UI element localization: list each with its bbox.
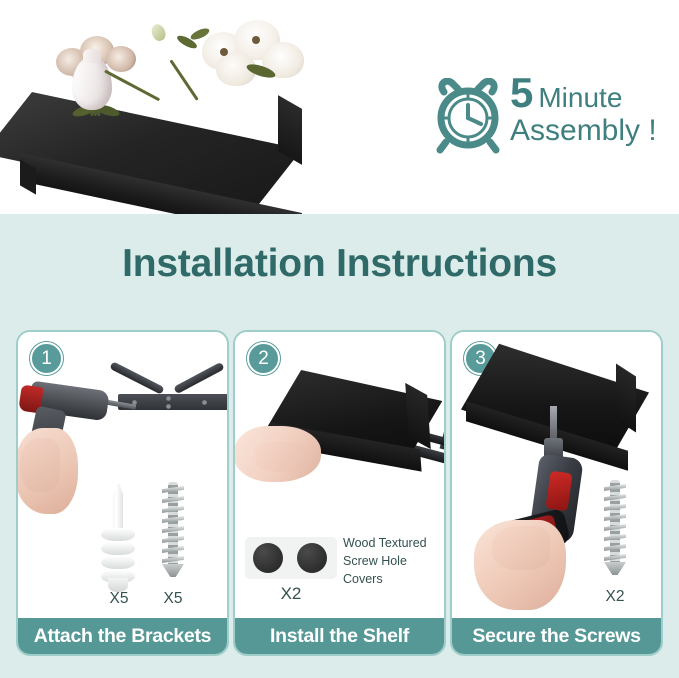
- step-card-3[interactable]: 3: [450, 330, 663, 656]
- step-2-illustration: 2 Wood Textured Screw Hole: [235, 332, 444, 618]
- screw-shaft: [610, 480, 620, 564]
- wall-anchor-graphic: [100, 484, 136, 594]
- hand-graphic: [474, 520, 566, 610]
- screw-graphic: [162, 482, 184, 578]
- screwdriver-bit: [550, 406, 557, 440]
- assembly-label: Assembly !: [510, 115, 657, 147]
- ceramic-vase: [72, 58, 112, 110]
- hero-shelf-image: [10, 80, 330, 205]
- bracket-screw-hole: [166, 396, 171, 401]
- flower-bloom: [106, 46, 136, 72]
- steps-row: 1: [16, 330, 663, 656]
- step-3-illustration: 3: [452, 332, 661, 618]
- bracket-screw-hole: [202, 400, 207, 405]
- step-card-2[interactable]: 2 Wood Textured Screw Hole: [233, 330, 446, 656]
- anchor-thread: [101, 528, 135, 541]
- alarm-clock-icon: [432, 78, 504, 154]
- bracket-screw-hole: [166, 404, 171, 409]
- step-number-badge-2: 2: [247, 342, 280, 375]
- drill-bit: [104, 399, 136, 409]
- screw-hole-cover: [297, 543, 327, 573]
- step-card-1[interactable]: 1: [16, 330, 229, 656]
- step-1-illustration: 1: [18, 332, 227, 618]
- cover-label-line-1: Wood Textured: [343, 535, 443, 553]
- step-caption-1: Attach the Brackets: [18, 618, 227, 654]
- assembly-minutes-unit: Minute: [538, 84, 622, 112]
- anchor-head: [109, 484, 127, 532]
- page-title: Installation Instructions: [0, 242, 679, 286]
- step-caption-3: Secure the Screws: [452, 618, 661, 654]
- orchid-bud: [149, 22, 167, 42]
- screw-quantity: X5: [152, 590, 194, 608]
- orchid-center: [220, 48, 228, 56]
- step-caption-2: Install the Shelf: [235, 618, 444, 654]
- hand-graphic: [235, 426, 321, 482]
- anchor-thread: [101, 542, 135, 555]
- step-number-badge-1: 1: [30, 342, 63, 375]
- screw-hole-covers-label: Wood Textured Screw Hole Covers: [343, 535, 443, 588]
- instructions-section: Installation Instructions 1: [0, 214, 679, 678]
- cover-label-line-2: Screw Hole: [343, 553, 443, 571]
- assembly-minutes-number: 5: [510, 72, 532, 114]
- screw-shaft: [168, 482, 178, 566]
- hand-graphic: [18, 428, 78, 514]
- screw-hole-covers-graphic: [245, 537, 337, 579]
- covers-quantity: X2: [269, 584, 313, 604]
- anchor-quantity: X5: [98, 590, 140, 608]
- orchid-center: [252, 36, 260, 44]
- anchor-thread: [101, 556, 135, 569]
- orchid-stem: [169, 59, 198, 100]
- hero-banner: 5 Minute Assembly !: [0, 0, 679, 214]
- vase-flower-arrangement: [10, 20, 150, 170]
- screw-graphic: [604, 480, 626, 576]
- screw-quantity: X2: [594, 588, 636, 606]
- screw-head: [604, 562, 626, 575]
- bracket-arm-right: [173, 362, 224, 394]
- cover-label-line-3: Covers: [343, 571, 443, 589]
- orchid-branch: [150, 8, 310, 88]
- power-drill-graphic: [18, 380, 144, 500]
- shelf-graphic: [267, 374, 442, 489]
- assembly-time-badge: 5 Minute Assembly !: [432, 74, 668, 160]
- screw-hole-cover: [253, 543, 283, 573]
- assembly-badge-text: 5 Minute Assembly !: [510, 72, 657, 147]
- screw-head: [162, 564, 184, 577]
